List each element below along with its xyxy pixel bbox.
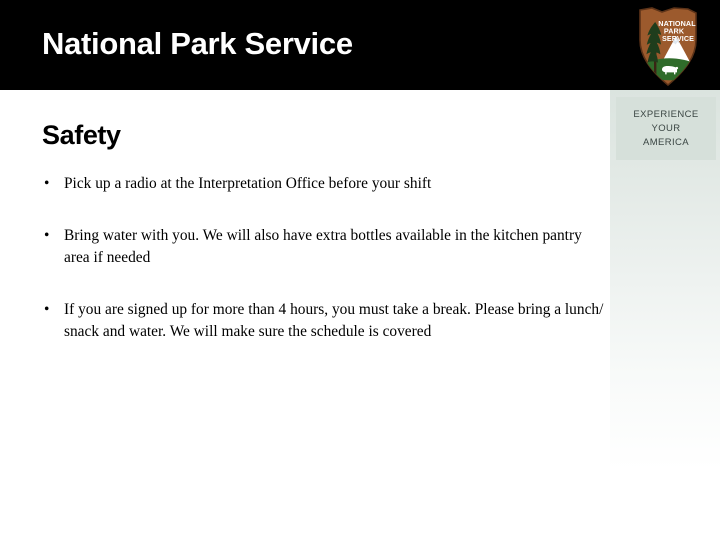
sidebar-tagline-line-1: EXPERIENCE: [616, 108, 716, 122]
bullet-text: Bring water with you. We will also have …: [64, 225, 608, 270]
bullet-marker-icon: •: [44, 173, 49, 196]
bullet-marker-icon: •: [44, 299, 49, 322]
header-title: National Park Service: [42, 24, 353, 64]
list-item: • Pick up a radio at the Interpretation …: [42, 173, 608, 196]
sidebar-tagline-line-3: AMERICA: [616, 136, 716, 150]
slide-canvas: National Park Service: [0, 0, 720, 540]
bullet-marker-icon: •: [44, 225, 49, 248]
bullet-text: Pick up a radio at the Interpretation Of…: [64, 173, 608, 196]
list-item: • Bring water with you. We will also hav…: [42, 225, 608, 270]
svg-text:SERVICE: SERVICE: [662, 34, 694, 43]
bullet-list: • Pick up a radio at the Interpretation …: [42, 173, 608, 344]
nps-arrowhead-logo: NATIONAL PARK SERVICE: [632, 6, 704, 88]
bullet-text: If you are signed up for more than 4 hou…: [64, 299, 608, 344]
slide-content: Safety • Pick up a radio at the Interpre…: [0, 90, 610, 540]
page-title: Safety: [42, 119, 121, 151]
sidebar-tagline: EXPERIENCE YOUR AMERICA: [616, 108, 716, 150]
list-item: • If you are signed up for more than 4 h…: [42, 299, 608, 344]
sidebar-tagline-line-2: YOUR: [616, 122, 716, 136]
header-band: National Park Service: [0, 0, 720, 90]
